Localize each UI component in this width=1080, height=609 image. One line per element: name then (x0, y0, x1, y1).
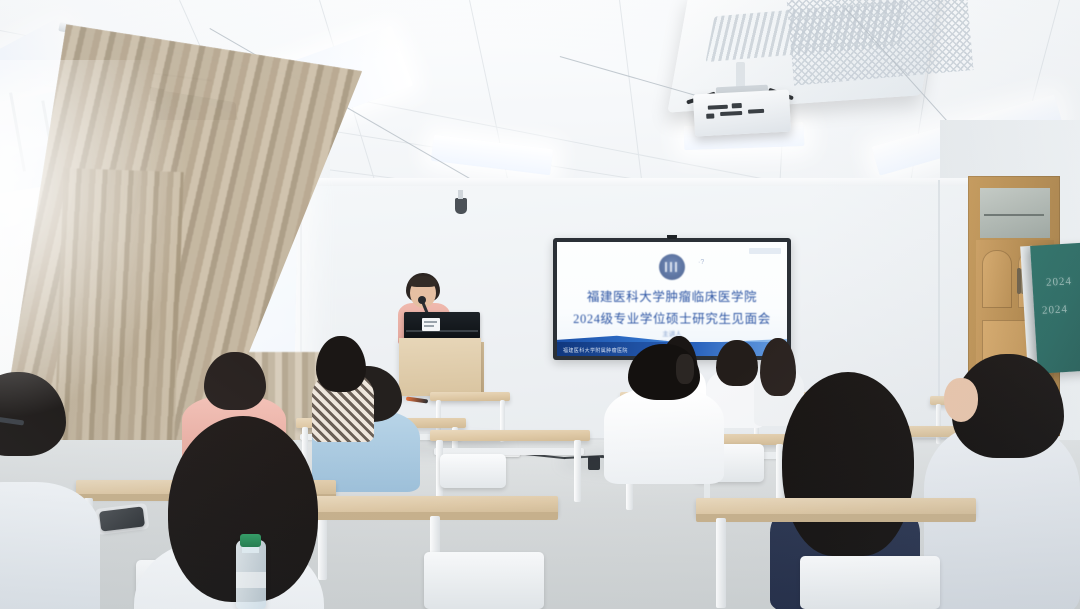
emblem-side-mark: ·? (698, 259, 704, 266)
desk-leg (716, 518, 726, 608)
podium (399, 338, 481, 396)
screen-brand-badge (749, 248, 781, 254)
desk-leg (936, 404, 941, 444)
chair[interactable] (800, 556, 940, 609)
bottle-label (236, 572, 266, 588)
screen-notch (667, 235, 677, 239)
transom-bar (984, 214, 1044, 216)
bottle-cap (240, 534, 261, 547)
desk-edge (696, 514, 976, 522)
cable-plug (588, 456, 600, 470)
chair[interactable] (440, 454, 506, 488)
door-transom-window (980, 188, 1050, 238)
slide-title-line-1: 福建医科大学肿瘤临床医学院 (557, 286, 787, 305)
door-panel (982, 250, 1012, 308)
desk (430, 430, 590, 441)
slide-title-line-2: 2024级专业学位硕士研究生见面会 (557, 308, 787, 327)
podium-monitor (404, 312, 480, 339)
slide-footer-text: 福建医科大学附属肿瘤医院 (563, 347, 628, 354)
chalkboard-line-1: 2024 (1046, 275, 1073, 289)
desk (430, 392, 510, 401)
security-camera-icon (455, 198, 467, 214)
presenter-fringe (409, 276, 437, 287)
podium-monitor-edge (406, 330, 478, 332)
speaker-nameplate (422, 318, 440, 331)
university-emblem-icon (659, 254, 685, 280)
chalkboard-line-2: 2024 (1042, 303, 1069, 317)
classroom-photo: 2024 2024 ·? 福建医科大学肿瘤临床医学院 2024级专业学位硕士研究… (0, 0, 1080, 609)
microphone-head-icon (418, 296, 426, 304)
